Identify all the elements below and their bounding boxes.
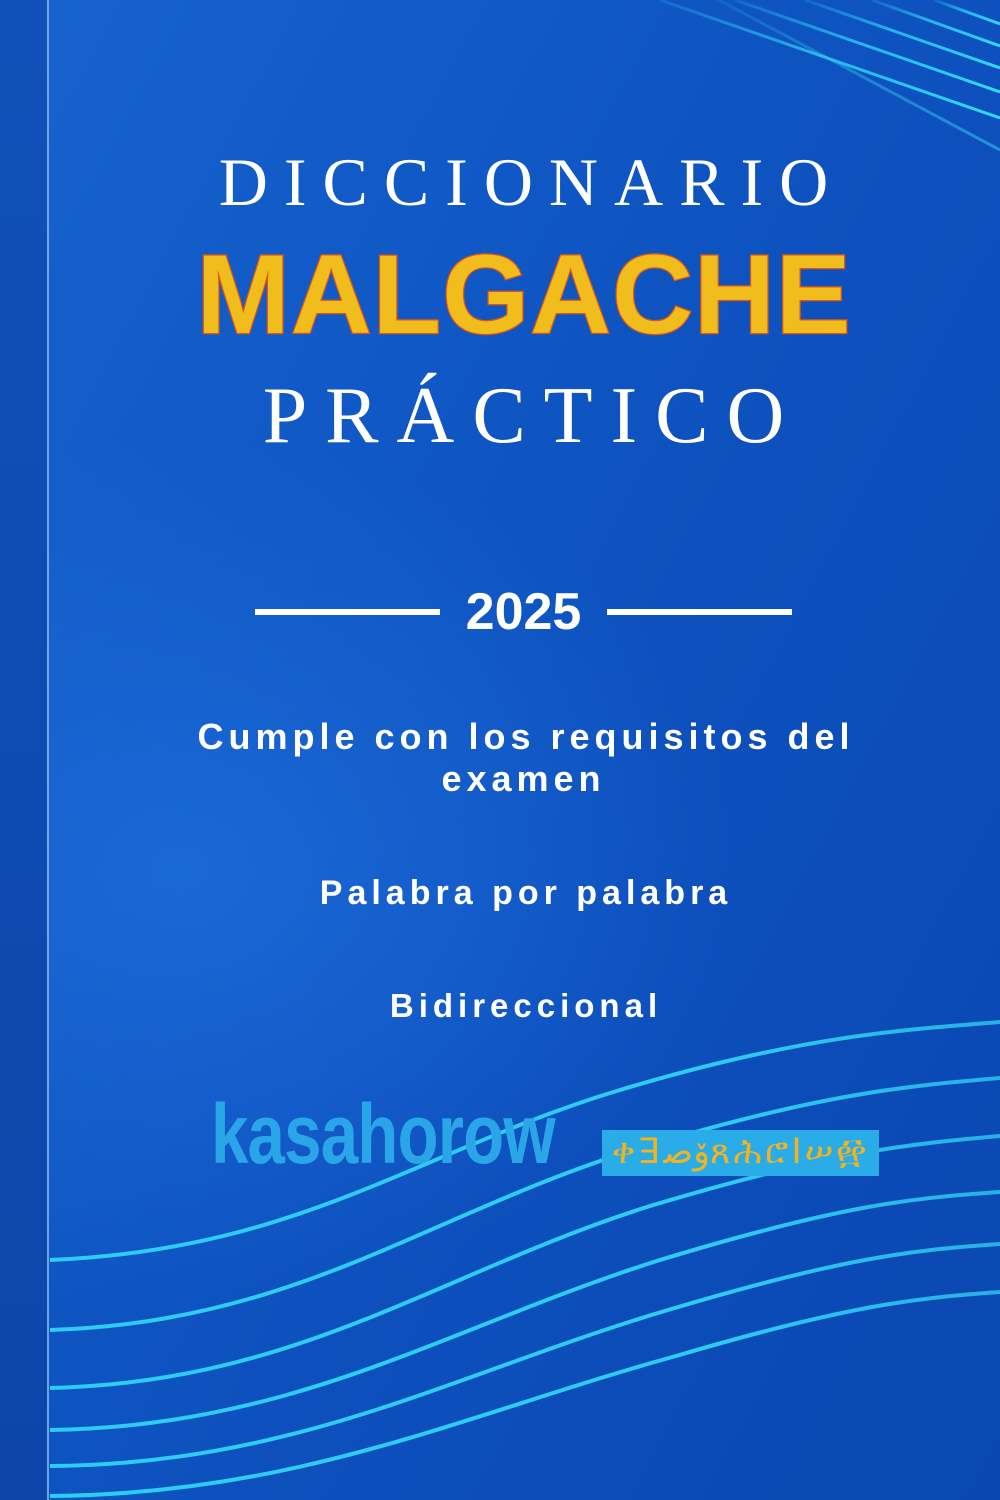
publisher-wordmark-kasahorow: kasahorow <box>210 1096 554 1173</box>
feature-bidirectional: Bidireccional <box>47 986 1000 1026</box>
edition-year-row: 2025 <box>47 586 1000 638</box>
title-language-malgache: MALGACHE <box>47 238 1000 352</box>
title-block: DICCIONARIO MALGACHE PRÁCTICO <box>47 148 1000 456</box>
title-line-practico: PRÁCTICO <box>47 376 1000 456</box>
publisher-logo: kasahorow ቀꓱﯙﺻጸሕሮꓲሠ፼ <box>47 1096 1000 1176</box>
year-rule-right <box>607 609 792 615</box>
year-rule-left <box>255 609 440 615</box>
book-cover: DICCIONARIO MALGACHE PRÁCTICO 2025 Cumpl… <box>0 0 1000 1500</box>
feature-exam-requirements: Cumple con los requisitos del examen <box>129 716 919 801</box>
publisher-script-wordmark: ቀꓱﯙﺻጸሕሮꓲሠ፼ <box>612 1134 870 1171</box>
feature-list: Cumple con los requisitos del examen Pal… <box>47 716 1000 1025</box>
feature-word-by-word: Palabra por palabra <box>47 873 1000 914</box>
title-line-diccionario: DICCIONARIO <box>47 148 1000 216</box>
edition-year: 2025 <box>466 586 582 638</box>
publisher-script-bar: ቀꓱﯙﺻጸሕሮꓲሠ፼ <box>602 1130 880 1176</box>
